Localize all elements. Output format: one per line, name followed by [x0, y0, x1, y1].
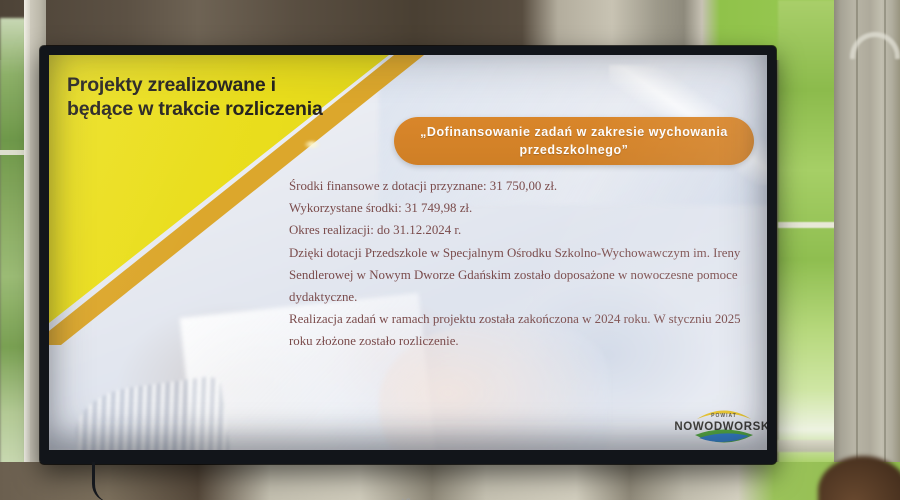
logo-mark-icon: POWIAT NOWODWORSKI	[671, 402, 767, 450]
project-name-banner-label: „Dofinansowanie zadań w zakresie wychowa…	[394, 117, 754, 165]
window-right-mullion	[778, 222, 838, 228]
screen-glint	[304, 141, 320, 148]
body-line-funds-used: Wykorzystane środki: 31 749,98 zł.	[289, 197, 759, 219]
tv-power-cable	[92, 462, 125, 500]
logo-top-word: POWIAT	[711, 413, 737, 419]
screenshot-stage: Projekty zrealizowane i będące w trakcie…	[0, 0, 900, 500]
body-line-funds-granted: Środki finansowe z dotacji przyznane: 31…	[289, 175, 759, 197]
powiat-nowodworski-logo: POWIAT NOWODWORSKI	[669, 401, 767, 450]
television-display[interactable]: Projekty zrealizowane i będące w trakcie…	[40, 46, 776, 464]
door-panel-line-2	[884, 0, 886, 500]
door-panel-line-1	[856, 0, 858, 500]
project-name-banner: „Dofinansowanie zadań w zakresie wychowa…	[394, 117, 754, 165]
window-right-sill	[778, 440, 838, 452]
logo-main-word: NOWODWORSKI	[674, 421, 767, 433]
body-line-period: Okres realizacji: do 31.12.2024 r.	[289, 219, 759, 241]
body-paragraph-settlement: Realizacja zadań w ramach projektu zosta…	[289, 308, 759, 352]
window-left-glass	[0, 18, 26, 488]
tv-screen: Projekty zrealizowane i będące w trakcie…	[49, 55, 767, 450]
window-left-mullion	[0, 150, 26, 155]
wall-lower	[0, 462, 900, 500]
window-right-glass	[778, 0, 838, 500]
presentation-slide: Projekty zrealizowane i będące w trakcie…	[49, 55, 767, 450]
door-frame	[834, 0, 900, 500]
body-paragraph-description: Dzięki dotacji Przedszkole w Specjalnym …	[289, 242, 759, 309]
slide-title: Projekty zrealizowane i będące w trakcie…	[67, 73, 327, 121]
slide-body-text: Środki finansowe z dotacji przyznane: 31…	[289, 175, 759, 353]
